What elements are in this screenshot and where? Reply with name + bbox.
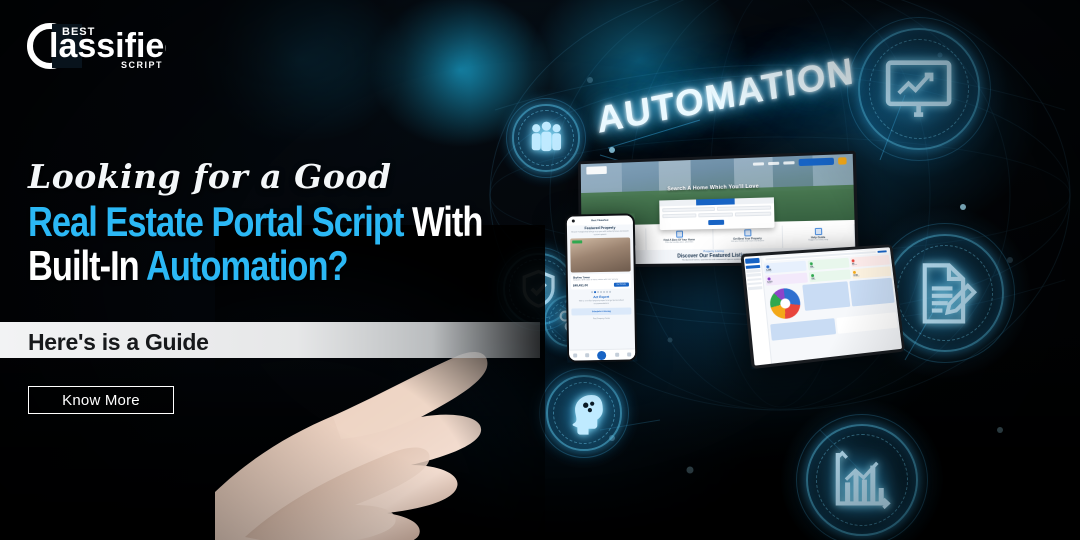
headline-cyan-1: Real Estate Portal Script (28, 198, 403, 245)
know-more-button[interactable]: Know More (28, 386, 174, 414)
promo-banner: AUTOMATION Search A Home Which You'll Lo… (0, 0, 1080, 540)
headline-block: Looking for a Good Real Estate Portal Sc… (28, 160, 538, 288)
headline-cyan-2: Automation? (146, 242, 348, 289)
svg-text:SCRIPT: SCRIPT (121, 60, 163, 70)
headline-line-2: Built-In Automation? (28, 245, 446, 288)
guide-text: Here's is a Guide (28, 329, 209, 356)
svg-text:BEST: BEST (62, 26, 95, 38)
brand-logo[interactable]: lassified BEST SCRIPT (18, 16, 166, 78)
headline-line-1: Real Estate Portal Script With (28, 201, 446, 244)
script-headline: Looking for a Good (28, 160, 538, 195)
headline-white-1: With (412, 198, 482, 245)
headline-white-2: Built-In (28, 242, 139, 289)
